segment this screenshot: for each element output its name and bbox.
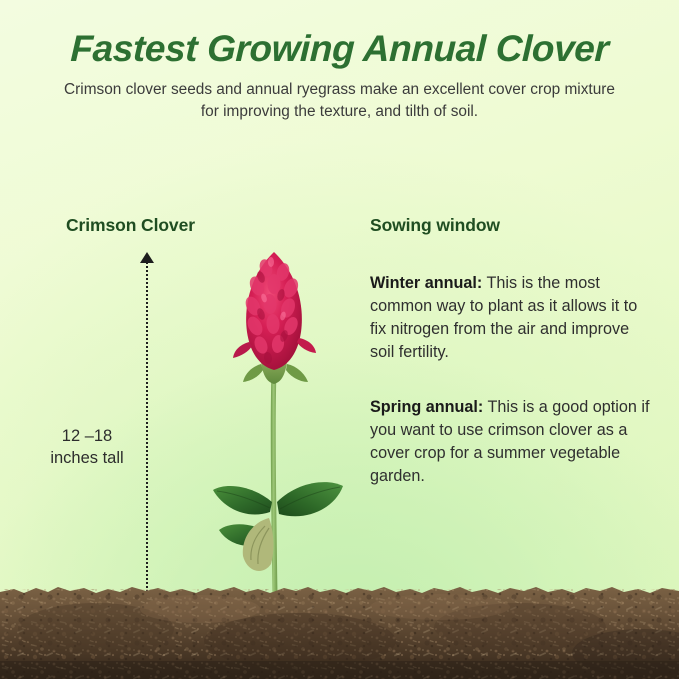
sowing-item-spring-annual: Spring annual: This is a good option if … [370, 396, 655, 488]
page-title: Fastest Growing Annual Clover [0, 28, 679, 69]
page-subtitle: Crimson clover seeds and annual ryegrass… [55, 79, 625, 123]
right-column-heading: Sowing window [370, 215, 500, 236]
measurement-label: 12 –18 inches tall [32, 425, 142, 470]
infographic-poster: Fastest Growing Annual Clover Crimson cl… [0, 0, 679, 679]
sowing-item-winter-annual-label: Winter annual: [370, 274, 482, 292]
clover-flower-head-icon [233, 252, 316, 370]
header: Fastest Growing Annual Clover Crimson cl… [0, 28, 679, 123]
measurement-label-line1: 12 –18 [32, 425, 142, 447]
sowing-item-winter-annual: Winter annual: This is the most common w… [370, 272, 655, 364]
measurement-label-line2: inches tall [32, 447, 142, 469]
soil-svg [0, 583, 679, 679]
sowing-item-spring-annual-label: Spring annual: [370, 398, 483, 416]
left-column-heading: Crimson Clover [66, 215, 195, 236]
dotted-measure-line-icon [146, 262, 148, 592]
plant-leaf-icon [213, 482, 343, 571]
soil-bed-icon [0, 583, 679, 679]
plant-svg [195, 250, 365, 595]
crimson-clover-plant [195, 250, 365, 595]
